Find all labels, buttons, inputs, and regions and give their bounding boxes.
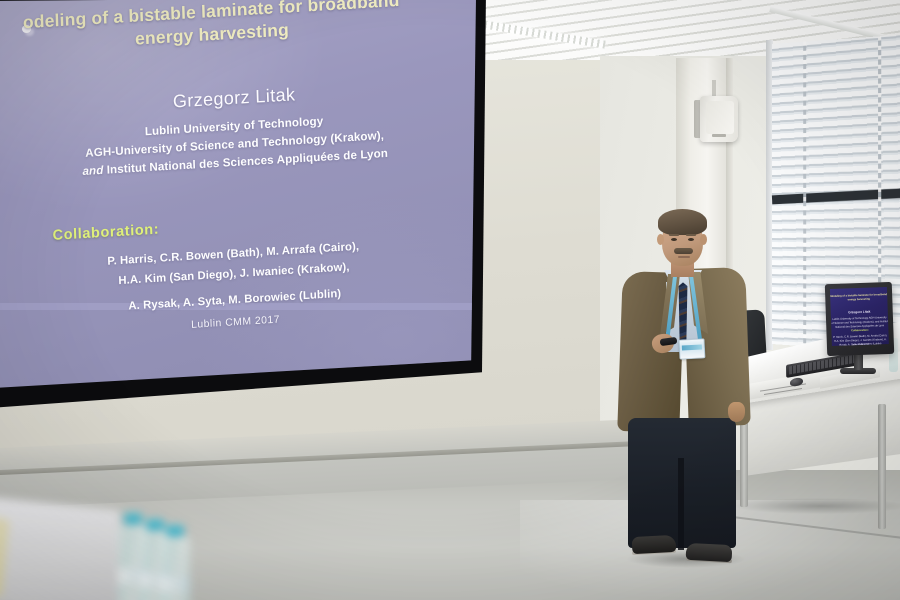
foreground-table bbox=[0, 497, 120, 600]
monitor-screen: Modeling of a bistable laminate for broa… bbox=[830, 287, 889, 346]
screen-surface: odeling of a bistable laminate for broad… bbox=[0, 0, 476, 392]
blind-cord[interactable] bbox=[803, 42, 806, 347]
trouser-leg-gap bbox=[678, 458, 684, 550]
bottle-cap[interactable] bbox=[166, 525, 184, 536]
collaboration-heading: Collaboration: bbox=[52, 222, 159, 244]
hair bbox=[658, 209, 707, 235]
eyebrow-right bbox=[686, 234, 696, 236]
shoe-right bbox=[686, 543, 733, 562]
eye-left bbox=[671, 238, 677, 241]
monitor[interactable]: Modeling of a bistable laminate for broa… bbox=[825, 282, 894, 356]
ear-right bbox=[700, 234, 707, 245]
bottle-label bbox=[160, 576, 190, 592]
eye-right bbox=[688, 238, 694, 241]
eyebrow-left bbox=[669, 234, 679, 236]
mustache bbox=[674, 248, 693, 254]
monitor-slide-author: Grzegorz Litak bbox=[831, 309, 888, 316]
monitor-slide-title: Modeling of a bistable laminate for broa… bbox=[830, 293, 887, 303]
conference-room-photo: odeling of a bistable laminate for broad… bbox=[0, 0, 900, 600]
desk-leg bbox=[878, 404, 886, 529]
slide-content: odeling of a bistable laminate for broad… bbox=[0, 0, 476, 392]
badge-color-band bbox=[682, 344, 702, 350]
bottle-cap[interactable] bbox=[146, 519, 164, 530]
affiliation-conjunction: and bbox=[82, 164, 103, 178]
conference-badge bbox=[678, 338, 705, 359]
wall-speaker bbox=[700, 96, 738, 142]
projection-screen: odeling of a bistable laminate for broad… bbox=[0, 0, 486, 410]
slide-title: odeling of a bistable laminate for broad… bbox=[0, 0, 452, 61]
ear-left bbox=[657, 234, 664, 245]
foreground-objects bbox=[0, 476, 260, 600]
speaker-logo bbox=[712, 134, 726, 137]
speaker-grill bbox=[706, 101, 734, 134]
shoe-left bbox=[632, 535, 677, 554]
presenter bbox=[612, 206, 772, 566]
mouth bbox=[678, 256, 690, 258]
bottle-cap[interactable] bbox=[124, 513, 142, 524]
collaboration-list: P. Harris, C.R. Bowen (Bath), M. Arrafa … bbox=[53, 235, 415, 322]
hand-right bbox=[728, 402, 745, 422]
monitor-slide-collaboration: Collaboration: bbox=[831, 328, 888, 334]
